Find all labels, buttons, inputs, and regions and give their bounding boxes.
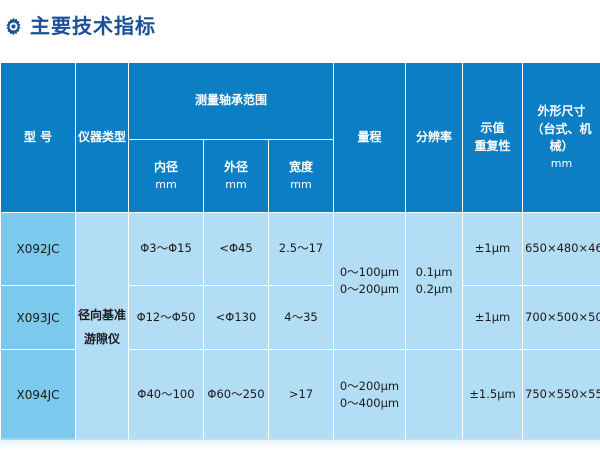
cell-range: 0～200μm 0～400μm [334,350,406,441]
cell-dimensions: 700×500×500 [523,286,600,350]
table-row: X092JC 径向基准 游隙仪 Φ3～Φ15 <Φ45 2.5～17 0～100… [1,213,600,286]
cell-inner-diameter: Φ40～100 [129,350,204,441]
column-header-outer-diameter: 外径 mm [204,140,269,213]
cell-resolution [406,350,463,441]
column-header-width: 宽度 mm [269,140,334,213]
cell-range-merged: 0～100μm 0～200μm [334,213,406,350]
cell-width: 4～35 [269,286,334,350]
instrument-type-line2: 游隙仪 [78,327,126,351]
outer-diameter-unit: mm [206,177,266,193]
cell-instrument-type: 径向基准 游隙仪 [76,213,129,441]
repeatability-line2: 重复性 [474,139,510,153]
dimensions-unit: mm [525,156,598,172]
cell-model: X092JC [1,213,76,286]
column-header-repeatability: 示值 重复性 [463,63,523,213]
range-line1: 0～200μm [336,378,403,395]
column-header-model: 型 号 [1,63,76,213]
cell-model: X093JC [1,286,76,350]
column-header-measure-range-group: 测量轴承范围 [129,63,334,140]
cell-width: 2.5～17 [269,213,334,286]
cell-outer-diameter: <Φ45 [204,213,269,286]
technical-specifications-table: 型 号 仪器类型 测量轴承范围 量程 分辨率 示值 重复性 外形尺寸 （台式、机… [0,62,600,441]
page-title: 主要技术指标 [30,16,156,36]
cell-inner-diameter: Φ3～Φ15 [129,213,204,286]
resolution-line1: 0.1μm [408,264,460,281]
dimensions-line1: 外形尺寸 [537,104,585,118]
cell-resolution-merged: 0.1μm 0.2μm [406,213,463,350]
cell-outer-diameter: <Φ130 [204,286,269,350]
cell-repeatability: ±1.5μm [463,350,523,441]
range-line2: 0～400μm [336,395,403,412]
column-header-resolution: 分辨率 [406,63,463,213]
cell-inner-diameter: Φ12～Φ50 [129,286,204,350]
width-unit: mm [271,177,331,193]
column-header-instrument-type: 仪器类型 [76,63,129,213]
cell-outer-diameter: Φ60～250 [204,350,269,441]
column-header-dimensions: 外形尺寸 （台式、机械） mm [523,63,600,213]
cell-dimensions: 750×550×550 [523,350,600,441]
range-line1: 0～100μm [336,264,403,281]
column-header-inner-diameter: 内径 mm [129,140,204,213]
instrument-type-line1: 径向基准 [78,303,126,327]
cell-dimensions: 650×480×460 [523,213,600,286]
column-header-range: 量程 [334,63,406,213]
range-line2: 0～200μm [336,281,403,298]
cell-model: X094JC [1,350,76,441]
table-body: X092JC 径向基准 游隙仪 Φ3～Φ15 <Φ45 2.5～17 0～100… [1,213,600,441]
table-header: 型 号 仪器类型 测量轴承范围 量程 分辨率 示值 重复性 外形尺寸 （台式、机… [1,63,600,213]
resolution-line2: 0.2μm [408,281,460,298]
cell-width: >17 [269,350,334,441]
inner-diameter-label: 内径 [154,160,178,174]
inner-diameter-unit: mm [131,177,201,193]
gear-icon [4,16,30,36]
cell-repeatability: ±1μm [463,213,523,286]
dimensions-line2: （台式、机械） [531,122,591,153]
cell-repeatability: ±1μm [463,286,523,350]
outer-diameter-label: 外径 [224,160,248,174]
page-title-bar: 主要技术指标 [0,0,600,52]
repeatability-line1: 示值 [480,121,504,135]
width-label: 宽度 [289,160,313,174]
